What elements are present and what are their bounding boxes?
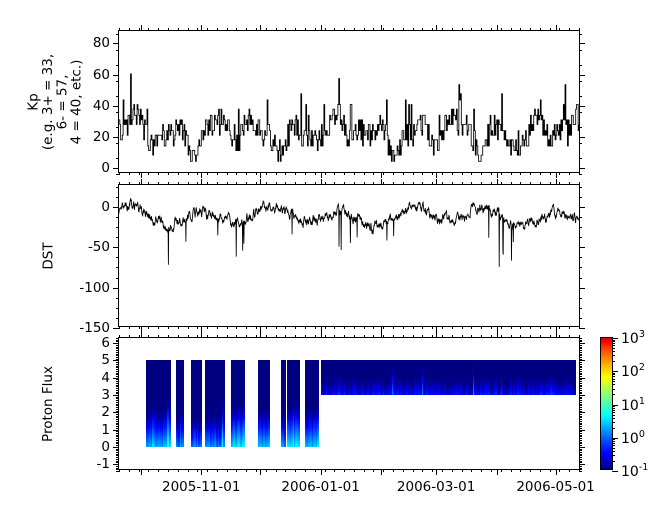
y-minor-tick	[579, 127, 582, 128]
x-major-tick	[201, 179, 202, 185]
y-minor-tick	[116, 354, 119, 355]
x-minor-tick	[559, 335, 560, 338]
y-major-tick	[113, 464, 119, 465]
colorbar-minor-tick	[612, 376, 615, 377]
y-minor-tick	[579, 423, 582, 424]
y-tick-label: 40	[93, 98, 110, 114]
y-minor-tick	[579, 197, 582, 198]
x-minor-tick	[295, 335, 296, 338]
y-major-tick	[113, 43, 119, 44]
y-minor-tick	[116, 340, 119, 341]
x-minor-tick	[256, 469, 257, 472]
x-minor-tick	[217, 335, 218, 338]
x-minor-tick	[393, 326, 394, 329]
x-minor-tick	[129, 28, 130, 31]
x-minor-tick	[354, 335, 355, 338]
y-major-tick	[113, 137, 119, 138]
x-minor-tick	[442, 172, 443, 175]
x-minor-tick	[530, 469, 531, 472]
y-tick-label: 0	[101, 439, 110, 455]
y-minor-tick	[579, 459, 582, 460]
x-major-tick	[321, 172, 322, 178]
x-minor-tick	[197, 182, 198, 185]
x-minor-tick	[569, 326, 570, 329]
x-major-tick	[436, 179, 437, 185]
x-minor-tick	[452, 335, 453, 338]
y-minor-tick	[116, 350, 119, 351]
x-major-tick	[497, 172, 498, 178]
x-tick-label: 2006-03-01	[397, 479, 475, 495]
y-major-tick	[579, 378, 585, 379]
x-major-tick	[497, 332, 498, 338]
x-major-tick	[556, 25, 557, 31]
colorbar-minor-tick	[612, 343, 615, 344]
y-major-tick	[579, 43, 585, 44]
x-minor-tick	[462, 326, 463, 329]
y-minor-tick	[116, 466, 119, 467]
x-minor-tick	[227, 335, 228, 338]
y-minor-tick	[579, 421, 582, 422]
y-minor-tick	[116, 318, 119, 319]
y-minor-tick	[579, 348, 582, 349]
x-minor-tick	[148, 326, 149, 329]
y-minor-tick	[116, 443, 119, 444]
x-major-tick	[321, 332, 322, 338]
x-minor-tick	[129, 326, 130, 329]
x-minor-tick	[334, 469, 335, 472]
y-minor-tick	[116, 127, 119, 128]
y-minor-tick	[116, 308, 119, 309]
y-minor-tick	[579, 364, 582, 365]
x-minor-tick	[305, 469, 306, 472]
x-minor-tick	[305, 182, 306, 185]
heatmap-column	[169, 360, 171, 446]
x-minor-tick	[178, 172, 179, 175]
y-minor-tick	[579, 419, 582, 420]
x-minor-tick	[364, 335, 365, 338]
heatmap-column	[298, 360, 300, 446]
x-minor-tick	[432, 326, 433, 329]
y-minor-tick	[116, 371, 119, 372]
y-minor-tick	[579, 308, 582, 309]
colorbar-minor-tick	[612, 381, 615, 382]
y-major-tick	[579, 447, 585, 448]
x-minor-tick	[373, 182, 374, 185]
y-minor-tick	[116, 409, 119, 410]
x-minor-tick	[481, 182, 482, 185]
x-minor-tick	[334, 172, 335, 175]
x-minor-tick	[334, 28, 335, 31]
x-minor-tick	[285, 172, 286, 175]
colorbar-minor-tick	[612, 355, 615, 356]
x-minor-tick	[413, 172, 414, 175]
x-minor-tick	[442, 335, 443, 338]
y-major-tick	[579, 168, 585, 169]
x-minor-tick	[442, 326, 443, 329]
y-minor-tick	[579, 143, 582, 144]
y-minor-tick	[116, 158, 119, 159]
x-minor-tick	[119, 326, 120, 329]
y-minor-tick	[116, 143, 119, 144]
colorbar-minor-tick	[612, 341, 615, 342]
x-minor-tick	[442, 469, 443, 472]
x-minor-tick	[540, 28, 541, 31]
y-minor-tick	[116, 267, 119, 268]
y-tick-label: 0	[101, 199, 110, 215]
colorbar-minor-tick	[612, 374, 615, 375]
x-minor-tick	[158, 172, 159, 175]
colorbar-minor-tick	[612, 418, 615, 419]
x-minor-tick	[315, 182, 316, 185]
y-minor-tick	[116, 442, 119, 443]
y-minor-tick	[116, 187, 119, 188]
x-minor-tick	[148, 172, 149, 175]
x-minor-tick	[148, 335, 149, 338]
x-minor-tick	[432, 469, 433, 472]
y-minor-tick	[116, 436, 119, 437]
x-tick-label: 2005-11-01	[162, 479, 240, 495]
x-minor-tick	[188, 335, 189, 338]
x-minor-tick	[197, 28, 198, 31]
x-major-tick	[201, 469, 202, 475]
y-major-tick	[579, 137, 585, 138]
x-minor-tick	[119, 335, 120, 338]
x-minor-tick	[168, 172, 169, 175]
y-minor-tick	[116, 367, 119, 368]
x-minor-tick	[344, 28, 345, 31]
y-minor-tick	[116, 364, 119, 365]
y-minor-tick	[579, 449, 582, 450]
kp-axis-title-line-4: 4 = 40, etc.)	[68, 59, 84, 144]
kp-plot-area	[119, 31, 579, 172]
x-minor-tick	[530, 326, 531, 329]
y-minor-tick	[116, 357, 119, 358]
y-minor-tick	[579, 443, 582, 444]
x-minor-tick	[325, 172, 326, 175]
x-minor-tick	[148, 28, 149, 31]
colorbar-minor-tick	[612, 348, 615, 349]
x-minor-tick	[501, 172, 502, 175]
x-minor-tick	[236, 326, 237, 329]
y-major-tick	[579, 412, 585, 413]
x-minor-tick	[305, 28, 306, 31]
x-minor-tick	[520, 172, 521, 175]
x-minor-tick	[373, 335, 374, 338]
x-minor-tick	[207, 172, 208, 175]
x-minor-tick	[207, 335, 208, 338]
x-minor-tick	[413, 335, 414, 338]
y-tick-label: 3	[101, 387, 110, 403]
heatmap-column	[574, 360, 576, 395]
x-minor-tick	[530, 182, 531, 185]
x-minor-tick	[422, 182, 423, 185]
x-minor-tick	[481, 469, 482, 472]
y-minor-tick	[116, 366, 119, 367]
x-minor-tick	[354, 182, 355, 185]
y-minor-tick	[116, 65, 119, 66]
x-minor-tick	[246, 469, 247, 472]
x-minor-tick	[197, 335, 198, 338]
x-minor-tick	[550, 28, 551, 31]
y-minor-tick	[579, 431, 582, 432]
x-minor-tick	[403, 469, 404, 472]
x-minor-tick	[413, 28, 414, 31]
x-minor-tick	[276, 335, 277, 338]
x-minor-tick	[207, 469, 208, 472]
x-minor-tick	[364, 326, 365, 329]
y-major-tick	[579, 360, 585, 361]
x-minor-tick	[569, 28, 570, 31]
y-minor-tick	[579, 392, 582, 393]
x-minor-tick	[139, 172, 140, 175]
x-minor-tick	[344, 326, 345, 329]
y-minor-tick	[116, 398, 119, 399]
x-minor-tick	[422, 172, 423, 175]
x-minor-tick	[403, 28, 404, 31]
x-minor-tick	[256, 172, 257, 175]
x-major-tick	[436, 172, 437, 178]
y-major-tick	[113, 106, 119, 107]
x-minor-tick	[236, 182, 237, 185]
x-minor-tick	[471, 469, 472, 472]
y-minor-tick	[579, 466, 582, 467]
x-major-tick	[260, 179, 261, 185]
kp-panel: 020406080	[118, 30, 580, 173]
y-major-tick	[113, 447, 119, 448]
x-minor-tick	[501, 335, 502, 338]
x-minor-tick	[246, 28, 247, 31]
x-minor-tick	[501, 326, 502, 329]
colorbar-minor-tick	[612, 441, 615, 442]
x-minor-tick	[452, 469, 453, 472]
x-minor-tick	[491, 469, 492, 472]
y-minor-tick	[579, 257, 582, 258]
x-minor-tick	[481, 326, 482, 329]
x-minor-tick	[579, 182, 580, 185]
x-minor-tick	[188, 326, 189, 329]
x-minor-tick	[471, 28, 472, 31]
y-tick-label: -150	[79, 320, 110, 336]
y-minor-tick	[116, 459, 119, 460]
x-minor-tick	[285, 28, 286, 31]
colorbar-minor-tick	[612, 361, 615, 362]
x-minor-tick	[276, 172, 277, 175]
kp-trace	[119, 31, 579, 172]
x-minor-tick	[403, 326, 404, 329]
x-minor-tick	[422, 326, 423, 329]
x-minor-tick	[462, 469, 463, 472]
y-minor-tick	[579, 402, 582, 403]
x-minor-tick	[550, 335, 551, 338]
y-major-tick	[113, 247, 119, 248]
y-minor-tick	[579, 461, 582, 462]
x-minor-tick	[129, 172, 130, 175]
x-minor-tick	[373, 28, 374, 31]
colorbar-minor-tick	[612, 445, 615, 446]
x-minor-tick	[462, 182, 463, 185]
x-minor-tick	[569, 469, 570, 472]
x-minor-tick	[452, 172, 453, 175]
x-minor-tick	[227, 326, 228, 329]
colorbar-minor-tick	[612, 340, 615, 341]
y-minor-tick	[579, 424, 582, 425]
x-minor-tick	[276, 326, 277, 329]
y-minor-tick	[579, 452, 582, 453]
y-minor-tick	[579, 298, 582, 299]
x-minor-tick	[511, 469, 512, 472]
x-minor-tick	[579, 469, 580, 472]
y-minor-tick	[579, 400, 582, 401]
x-minor-tick	[285, 335, 286, 338]
y-minor-tick	[579, 388, 582, 389]
y-minor-tick	[579, 217, 582, 218]
y-major-tick	[113, 168, 119, 169]
x-minor-tick	[178, 469, 179, 472]
y-tick-label: 20	[93, 129, 110, 145]
x-minor-tick	[158, 335, 159, 338]
x-minor-tick	[315, 469, 316, 472]
y-minor-tick	[579, 454, 582, 455]
x-minor-tick	[217, 469, 218, 472]
x-minor-tick	[383, 28, 384, 31]
y-minor-tick	[579, 397, 582, 398]
y-minor-tick	[116, 392, 119, 393]
y-minor-tick	[579, 158, 582, 159]
y-minor-tick	[579, 416, 582, 417]
x-minor-tick	[246, 172, 247, 175]
y-minor-tick	[579, 347, 582, 348]
y-minor-tick	[579, 350, 582, 351]
x-minor-tick	[452, 326, 453, 329]
x-major-tick	[556, 179, 557, 185]
x-minor-tick	[236, 469, 237, 472]
y-minor-tick	[116, 431, 119, 432]
y-minor-tick	[116, 217, 119, 218]
x-minor-tick	[188, 172, 189, 175]
x-minor-tick	[305, 326, 306, 329]
x-minor-tick	[432, 28, 433, 31]
x-minor-tick	[158, 28, 159, 31]
x-minor-tick	[579, 326, 580, 329]
x-minor-tick	[266, 469, 267, 472]
x-minor-tick	[413, 469, 414, 472]
x-minor-tick	[344, 469, 345, 472]
x-minor-tick	[217, 182, 218, 185]
x-minor-tick	[511, 172, 512, 175]
x-minor-tick	[550, 182, 551, 185]
x-minor-tick	[139, 182, 140, 185]
y-minor-tick	[116, 362, 119, 363]
x-minor-tick	[540, 326, 541, 329]
proton-flux-heatmap	[119, 338, 579, 469]
y-minor-tick	[579, 96, 582, 97]
y-major-tick	[113, 395, 119, 396]
y-major-tick	[579, 247, 585, 248]
x-major-tick	[321, 25, 322, 31]
x-major-tick	[260, 172, 261, 178]
colorbar-tick-label: 101	[621, 396, 645, 414]
y-minor-tick	[579, 65, 582, 66]
y-minor-tick	[116, 449, 119, 450]
y-tick-label: 5	[101, 352, 110, 368]
x-minor-tick	[266, 182, 267, 185]
x-minor-tick	[256, 182, 257, 185]
colorbar-minor-tick	[612, 345, 615, 346]
x-tick-label: 2006-05-01	[516, 479, 594, 495]
colorbar-major-tick	[612, 405, 618, 406]
x-minor-tick	[139, 335, 140, 338]
heatmap-column	[284, 360, 286, 446]
y-minor-tick	[116, 407, 119, 408]
x-major-tick	[381, 172, 382, 178]
x-major-tick	[436, 332, 437, 338]
x-minor-tick	[462, 335, 463, 338]
y-minor-tick	[579, 367, 582, 368]
x-minor-tick	[530, 28, 531, 31]
y-minor-tick	[579, 373, 582, 374]
y-minor-tick	[579, 362, 582, 363]
y-minor-tick	[116, 457, 119, 458]
x-minor-tick	[178, 182, 179, 185]
y-minor-tick	[579, 357, 582, 358]
x-minor-tick	[119, 469, 120, 472]
y-minor-tick	[579, 352, 582, 353]
y-tick-label: 4	[101, 370, 110, 386]
x-minor-tick	[559, 469, 560, 472]
x-minor-tick	[471, 335, 472, 338]
colorbar-minor-tick	[612, 439, 615, 440]
y-major-tick	[113, 288, 119, 289]
x-minor-tick	[403, 172, 404, 175]
x-minor-tick	[471, 172, 472, 175]
x-minor-tick	[501, 28, 502, 31]
x-minor-tick	[129, 335, 130, 338]
y-major-tick	[113, 378, 119, 379]
x-major-tick	[436, 25, 437, 31]
x-minor-tick	[520, 326, 521, 329]
x-major-tick	[556, 469, 557, 475]
y-minor-tick	[579, 390, 582, 391]
x-minor-tick	[550, 469, 551, 472]
x-minor-tick	[511, 182, 512, 185]
x-minor-tick	[246, 326, 247, 329]
x-major-tick	[260, 332, 261, 338]
y-minor-tick	[116, 227, 119, 228]
x-tick-label: 2006-01-01	[281, 479, 359, 495]
x-minor-tick	[364, 28, 365, 31]
x-minor-tick	[246, 335, 247, 338]
x-minor-tick	[129, 469, 130, 472]
y-minor-tick	[579, 409, 582, 410]
x-minor-tick	[217, 28, 218, 31]
x-minor-tick	[491, 182, 492, 185]
y-major-tick	[579, 343, 585, 344]
y-minor-tick	[116, 461, 119, 462]
y-minor-tick	[116, 348, 119, 349]
x-minor-tick	[511, 28, 512, 31]
x-minor-tick	[432, 335, 433, 338]
x-minor-tick	[354, 326, 355, 329]
x-minor-tick	[295, 469, 296, 472]
space-weather-figure: 020406080 Kp (e.g. 3+ = 33, 6- = 57, 4 =…	[0, 0, 665, 523]
y-minor-tick	[579, 398, 582, 399]
x-minor-tick	[305, 172, 306, 175]
heatmap-column	[182, 360, 184, 446]
colorbar-minor-tick	[612, 415, 615, 416]
x-minor-tick	[393, 28, 394, 31]
y-minor-tick	[116, 298, 119, 299]
y-tick-label: 6	[101, 335, 110, 351]
